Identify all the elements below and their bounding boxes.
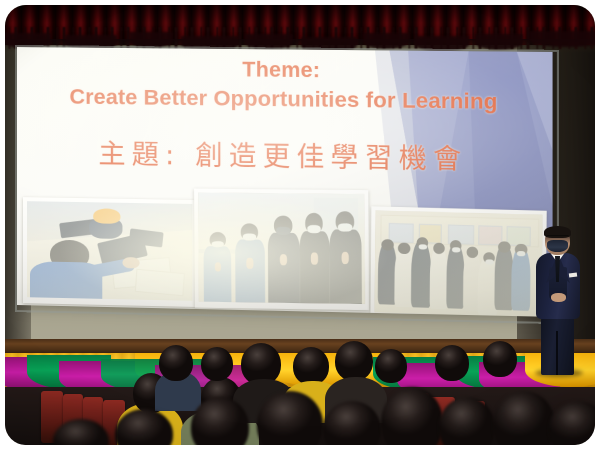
audience-member xyxy=(159,345,193,381)
audience-member xyxy=(375,349,407,383)
audience-member xyxy=(483,341,517,377)
presentation-slide: Theme: Create Better Opportunities for L… xyxy=(17,47,553,317)
audience-member xyxy=(335,341,373,381)
slide-title-chinese: 主題: 創造更佳學習機會 xyxy=(17,131,553,178)
face-mask xyxy=(547,240,568,252)
audience-member xyxy=(435,345,469,381)
audience-member xyxy=(201,347,233,381)
slide-photo-right xyxy=(370,206,546,317)
projection-screen: Theme: Create Better Opportunities for L… xyxy=(17,47,553,317)
slide-photo-left xyxy=(23,197,196,307)
slide-title-english-line2: Create Better Opportunities for Learning xyxy=(17,84,553,116)
clasped-hands xyxy=(551,293,566,302)
audience-member xyxy=(293,347,329,385)
photograph-frame: Theme: Create Better Opportunities for L… xyxy=(0,0,600,450)
presenter xyxy=(529,227,589,375)
slide-photo-centre xyxy=(194,188,369,310)
slide-title-english-line1: Theme: xyxy=(17,56,553,86)
photograph-canvas: Theme: Create Better Opportunities for L… xyxy=(5,5,595,445)
